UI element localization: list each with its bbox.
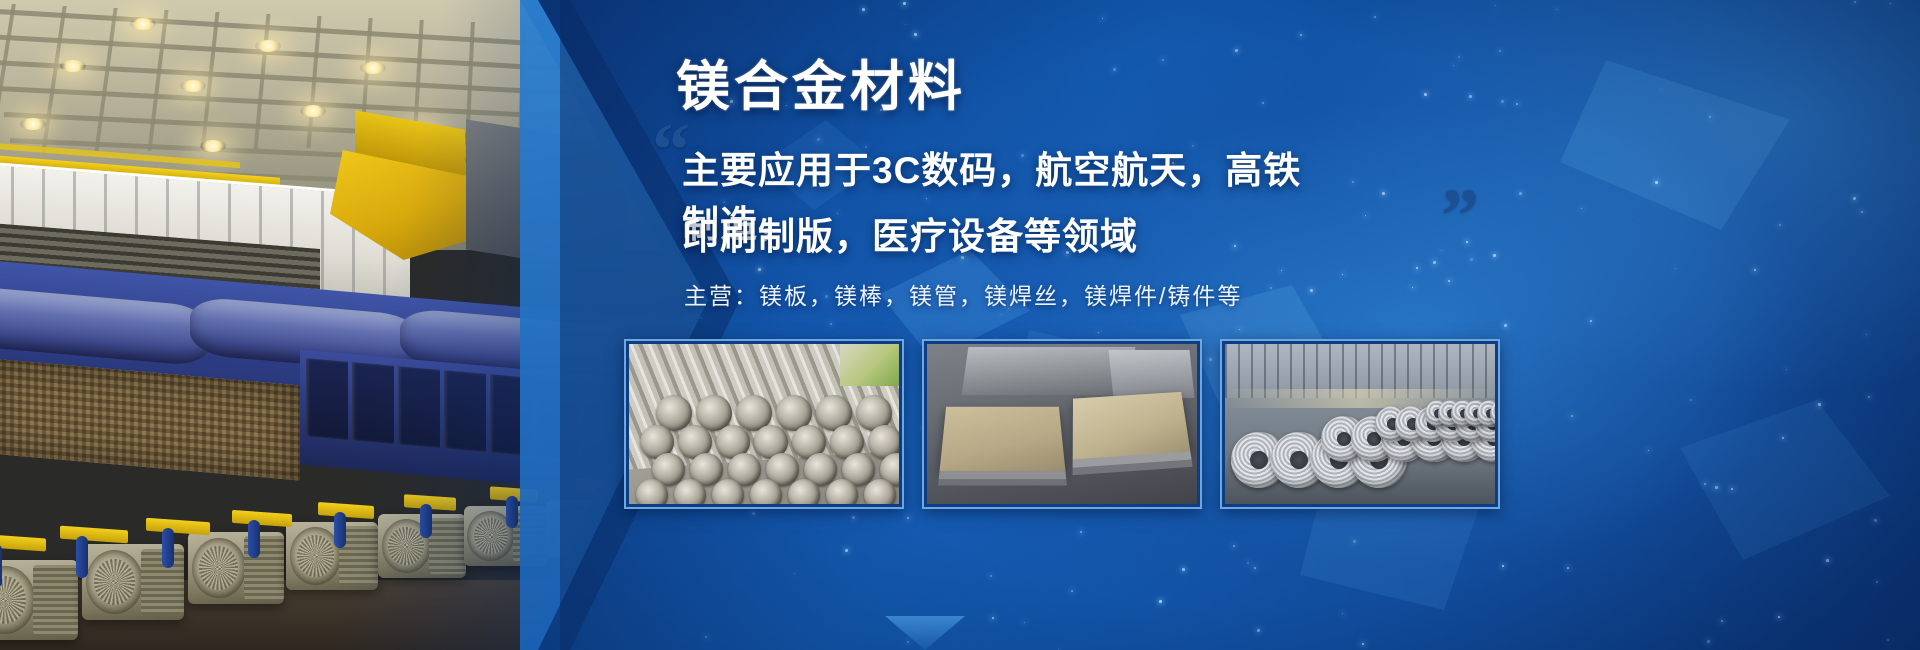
- quote-close-mark: ”: [1441, 178, 1479, 254]
- magnesium-bars-thumbnail[interactable]: [624, 339, 904, 509]
- banner-title: 镁合金材料: [676, 42, 966, 121]
- product-thumbnail-list: [624, 339, 1500, 509]
- banner-content: 镁合金材料 “ ” 主要应用于3C数码，航空航天，高铁制造， 印刷制版，医疗设备…: [676, 0, 1916, 650]
- main-products-text: 主营：镁板，镁棒，镁管，镁焊丝，镁焊件/铸件等: [684, 277, 1242, 311]
- magnesium-plates-thumbnail[interactable]: [922, 339, 1202, 509]
- product-banner: 镁合金材料 “ ” 主要应用于3C数码，航空航天，高铁制造， 印刷制版，医疗设备…: [0, 0, 1920, 650]
- magnesium-coils-thumbnail[interactable]: [1220, 339, 1500, 509]
- banner-subtitle-line-2: 印刷制版，医疗设备等领域: [682, 206, 1302, 260]
